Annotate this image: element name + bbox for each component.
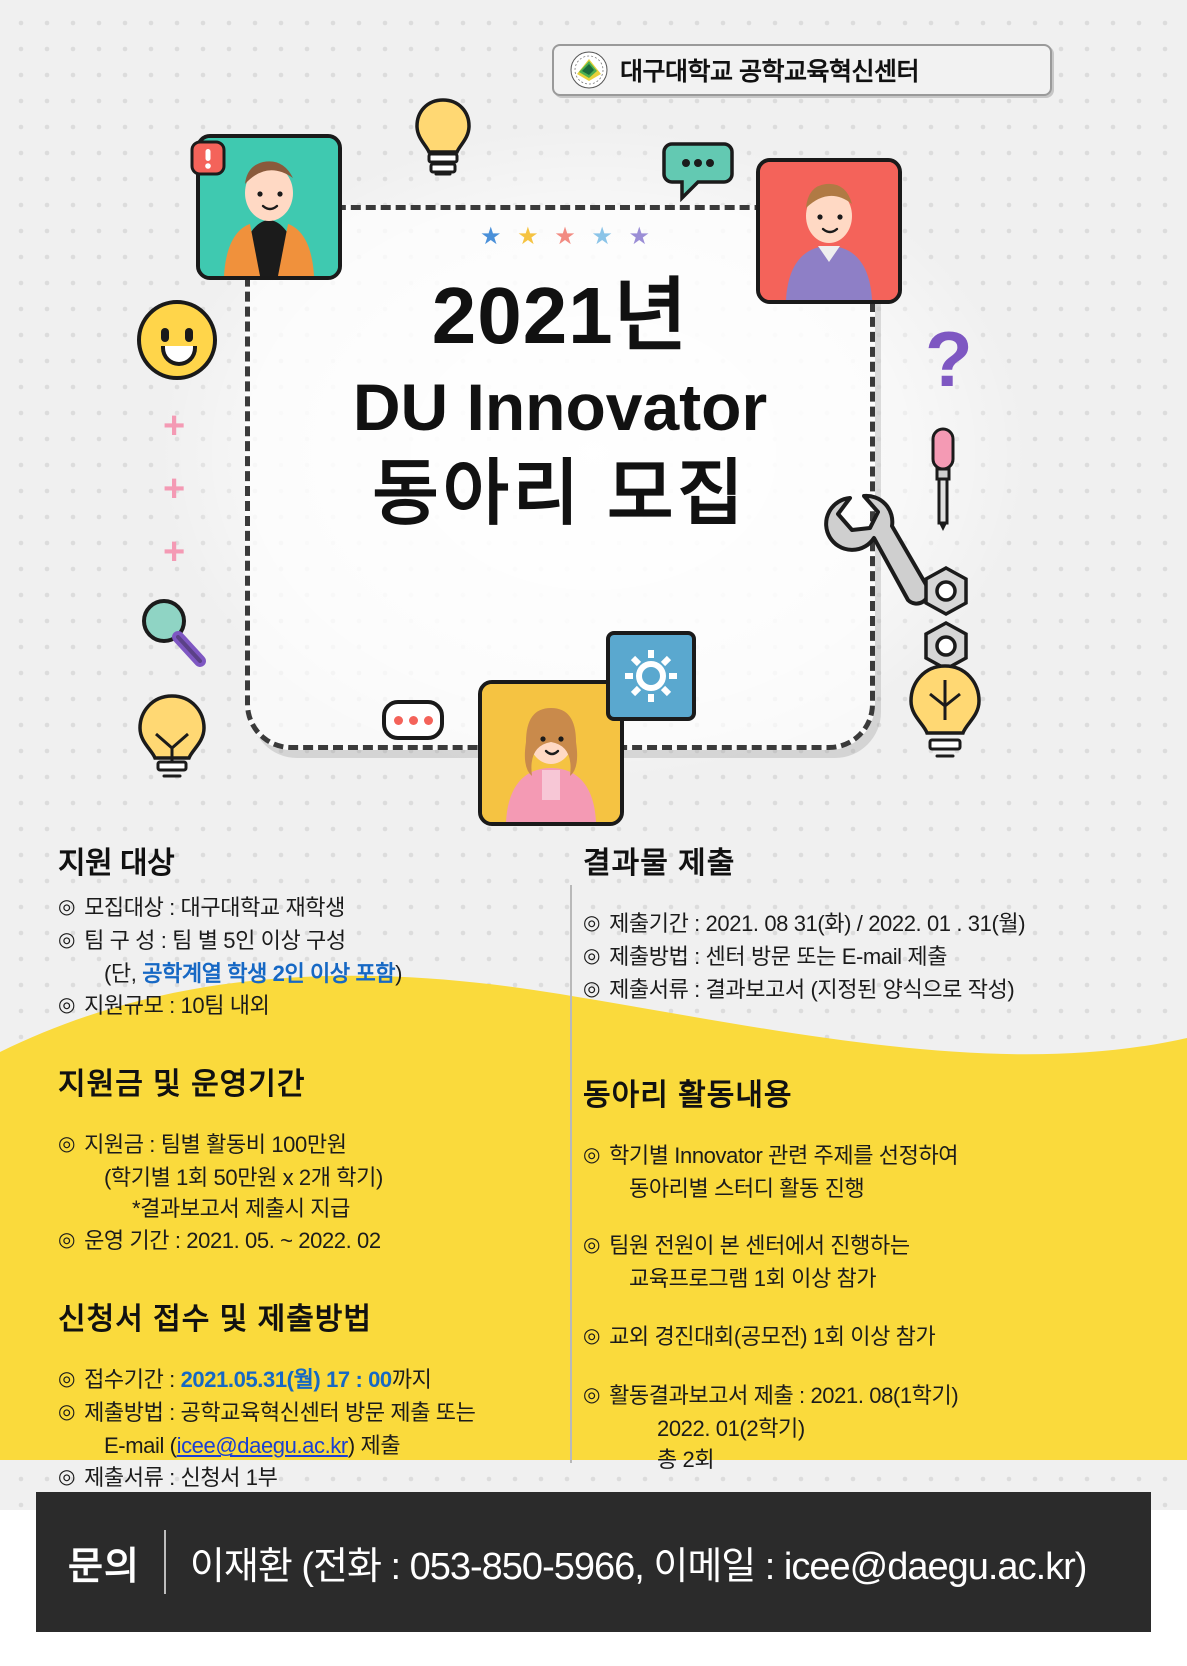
section-application: 신청서 접수 및 제출방법 ◎ 접수기간 : 2021.05.31(월) 17 … (58, 1294, 563, 1493)
illustration-person-bottom (478, 680, 624, 826)
note-prefix: (단, (104, 961, 142, 986)
university-header-badge: 대구대학교 공학교육혁신센터 (552, 44, 1052, 96)
list-item: ◎ 활동결과보고서 제출 : 2021. 08(1학기) (583, 1380, 1143, 1411)
magnifier-icon (134, 595, 214, 680)
gear-card-icon (605, 630, 697, 727)
star-icon: ★ (517, 225, 539, 249)
list-item: ◎ 지원규모 : 10팀 내외 (58, 990, 563, 1021)
section-funding: 지원금 및 운영기간 ◎ 지원금 : 팀별 활동비 100만원 (학기별 1회 … (58, 1059, 563, 1256)
list-item: ◎ 모집대상 : 대구대학교 재학생 (58, 892, 563, 923)
alert-badge-icon (190, 140, 226, 181)
list-item-text: 지원금 : 팀별 활동비 100만원 (84, 1129, 563, 1160)
list-item-note: 교육프로그램 1회 이상 참가 (583, 1263, 1143, 1294)
note-suffix: ) (395, 961, 402, 986)
list-item-note: 동아리별 스터디 활동 진행 (583, 1173, 1143, 1204)
bullet-icon: ◎ (58, 925, 75, 955)
list-item-text: 제출방법 : 센터 방문 또는 E-mail 제출 (609, 941, 1143, 972)
poster-canvas: 대구대학교 공학교육혁신센터 ★ ★ ★ ★ ★ 2021년 DU Innova… (0, 0, 1187, 1666)
contact-footer: 문의 이재환 (전화 : 053-850-5966, 이메일 : icee@da… (36, 1492, 1151, 1632)
list-item-note: 총 2회 (583, 1444, 1143, 1475)
star-icon: ★ (554, 225, 576, 249)
section-title-submission: 결과물 제출 (583, 838, 1143, 882)
list-item: ◎ 접수기간 : 2021.05.31(월) 17 : 00까지 (58, 1364, 563, 1395)
list-item-text: 지원규모 : 10팀 내외 (84, 990, 563, 1021)
bullet-icon: ◎ (58, 1462, 75, 1492)
lightbulb-icon (900, 660, 990, 775)
email-suffix: ) 제출 (348, 1433, 400, 1458)
bullet-icon: ◎ (58, 990, 75, 1020)
section-title-application: 신청서 접수 및 제출방법 (58, 1294, 563, 1338)
section-title-funding: 지원금 및 운영기간 (58, 1059, 563, 1103)
list-item: ◎ 제출방법 : 공학교육혁신센터 방문 제출 또는 (58, 1397, 563, 1428)
list-item-text: 제출서류 : 신청서 1부 (84, 1462, 563, 1493)
list-item-note: *결과보고서 제출시 지급 (58, 1193, 563, 1224)
list-item-text: 접수기간 : 2021.05.31(월) 17 : 00까지 (84, 1364, 563, 1395)
section-title-eligibility: 지원 대상 (58, 838, 563, 882)
illustration-person-right (756, 158, 902, 304)
plus-icon: + (163, 470, 185, 508)
deadline-suffix: 까지 (392, 1367, 432, 1392)
list-item-text: 모집대상 : 대구대학교 재학생 (84, 892, 563, 923)
question-mark-icon: ? (925, 320, 973, 398)
list-item: ◎ 팀원 전원이 본 센터에서 진행하는 (583, 1230, 1143, 1261)
footer-divider (164, 1530, 166, 1594)
list-item-text: 운영 기간 : 2021. 05. ~ 2022. 02 (84, 1225, 563, 1256)
bullet-icon: ◎ (583, 1230, 600, 1260)
bullet-icon: ◎ (583, 941, 600, 971)
section-activities: 동아리 활동내용 ◎ 학기별 Innovator 관련 주제를 선정하여 동아리… (583, 1070, 1143, 1476)
deadline-highlight: 2021.05.31(월) 17 : 00 (181, 1367, 392, 1392)
deadline-prefix: 접수기간 : (84, 1367, 181, 1392)
list-item-note: (학기별 1회 50만원 x 2개 학기) (58, 1162, 563, 1193)
list-item: ◎ 제출방법 : 센터 방문 또는 E-mail 제출 (583, 941, 1143, 972)
email-prefix: E-mail ( (104, 1433, 177, 1458)
smiley-face-icon (137, 300, 217, 380)
list-item-text: 제출기간 : 2021. 08 31(화) / 2022. 01 . 31(월) (609, 908, 1143, 939)
poster-title: 2021년 DU Innovator 동아리 모집 (245, 272, 875, 537)
list-item: ◎ 운영 기간 : 2021. 05. ~ 2022. 02 (58, 1225, 563, 1256)
list-item: ◎ 교외 경진대회(공모전) 1회 이상 참가 (583, 1321, 1143, 1352)
daegu-university-logo (570, 51, 608, 89)
list-item: ◎ 제출기간 : 2021. 08 31(화) / 2022. 01 . 31(… (583, 908, 1143, 939)
left-column: 지원 대상 ◎ 모집대상 : 대구대학교 재학생 ◎ 팀 구 성 : 팀 별 5… (58, 838, 563, 1497)
wrench-icon (820, 490, 930, 625)
list-item: ◎ 제출서류 : 신청서 1부 (58, 1462, 563, 1493)
list-item: ◎ 지원금 : 팀별 활동비 100만원 (58, 1129, 563, 1160)
list-item-note: 2022. 01(2학기) (583, 1413, 1143, 1444)
chat-bubble-icon (662, 140, 734, 207)
star-icon: ★ (480, 225, 502, 249)
lightbulb-icon (412, 96, 474, 193)
list-item: ◎ 제출서류 : 결과보고서 (지정된 양식으로 작성) (583, 974, 1143, 1005)
list-item-text: 제출방법 : 공학교육혁신센터 방문 제출 또는 (84, 1397, 563, 1428)
bullet-icon: ◎ (583, 1380, 600, 1410)
column-divider (570, 885, 572, 1463)
bullet-icon: ◎ (58, 892, 75, 922)
list-item-text: 학기별 Innovator 관련 주제를 선정하여 (609, 1140, 1143, 1171)
title-subject: 동아리 모집 (245, 451, 875, 537)
contact-label: 문의 (68, 1535, 140, 1590)
university-name-label: 대구대학교 공학교육혁신센터 (620, 52, 919, 88)
star-icon: ★ (628, 225, 650, 249)
section-title-activities: 동아리 활동내용 (583, 1070, 1143, 1114)
list-item: ◎ 학기별 Innovator 관련 주제를 선정하여 (583, 1140, 1143, 1171)
section-eligibility: 지원 대상 ◎ 모집대상 : 대구대학교 재학생 ◎ 팀 구 성 : 팀 별 5… (58, 838, 563, 1021)
hex-nut-icon (920, 565, 972, 622)
star-row: ★ ★ ★ ★ ★ (480, 225, 650, 249)
list-item-text: 활동결과보고서 제출 : 2021. 08(1학기) (609, 1380, 1143, 1411)
idea-bulb-icon (130, 690, 214, 791)
list-item: ◎ 팀 구 성 : 팀 별 5인 이상 구성 (58, 925, 563, 956)
list-item-text: 제출서류 : 결과보고서 (지정된 양식으로 작성) (609, 974, 1143, 1005)
plus-icon: + (163, 407, 185, 445)
bullet-icon: ◎ (58, 1129, 75, 1159)
email-link[interactable]: icee@daegu.ac.kr (177, 1433, 348, 1458)
list-item-text: 팀 구 성 : 팀 별 5인 이상 구성 (84, 925, 563, 956)
bullet-icon: ◎ (583, 908, 600, 938)
plus-icon: + (163, 533, 185, 571)
right-column: 결과물 제출 ◎ 제출기간 : 2021. 08 31(화) / 2022. 0… (583, 838, 1143, 1480)
note-highlight: 공학계열 학생 2인 이상 포함 (142, 961, 395, 986)
bullet-icon: ◎ (58, 1225, 75, 1255)
contact-details: 이재환 (전화 : 053-850-5966, 이메일 : icee@daegu… (190, 1535, 1087, 1590)
bullet-icon: ◎ (58, 1397, 75, 1427)
bullet-icon: ◎ (58, 1364, 75, 1394)
list-item-text: 팀원 전원이 본 센터에서 진행하는 (609, 1230, 1143, 1261)
star-icon: ★ (591, 225, 613, 249)
list-item-note: E-mail (icee@daegu.ac.kr) 제출 (58, 1430, 563, 1461)
bullet-icon: ◎ (583, 1140, 600, 1170)
section-submission: 결과물 제출 ◎ 제출기간 : 2021. 08 31(화) / 2022. 0… (583, 838, 1143, 1006)
title-program: DU Innovator (245, 366, 875, 449)
small-chat-bubble-icon (382, 700, 444, 740)
screwdriver-icon (925, 425, 961, 540)
list-item-note: (단, 공학계열 학생 2인 이상 포함) (58, 958, 563, 989)
bullet-icon: ◎ (583, 974, 600, 1004)
list-item-text: 교외 경진대회(공모전) 1회 이상 참가 (609, 1321, 1143, 1352)
bullet-icon: ◎ (583, 1321, 600, 1351)
